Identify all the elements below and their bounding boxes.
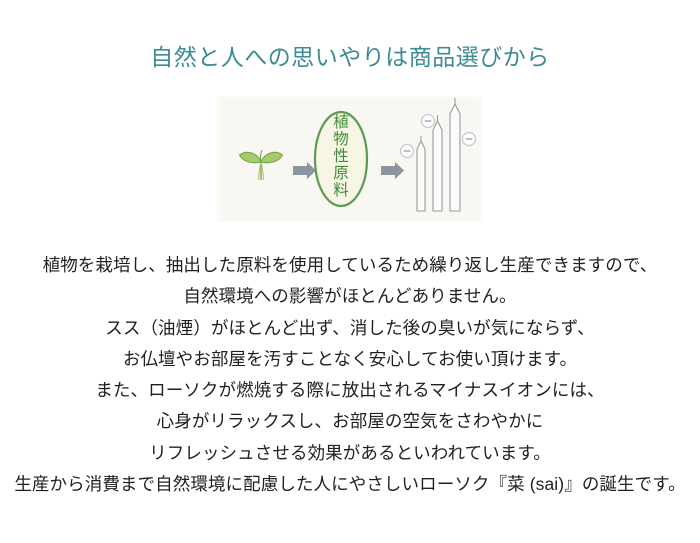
- candle-tall: [450, 98, 460, 211]
- body-line-5: また、ローソクが燃焼する際に放出されるマイナスイオンには、: [0, 375, 700, 406]
- body-line-1: 植物を栽培し、抽出した原料を使用しているため繰り返し生産できますので、: [0, 250, 700, 281]
- arrow-right-icon-2: [381, 162, 404, 179]
- candle-small: [417, 136, 425, 211]
- sprout-icon: [240, 150, 283, 180]
- page-title: 自然と人への思いやりは商品選びから: [0, 42, 700, 72]
- ellipse-char-5: 料: [333, 181, 349, 199]
- illustration-panel: 植 物 性 原 料: [217, 96, 483, 222]
- minus-ion-icon-2: [422, 115, 435, 128]
- body-copy: 植物を栽培し、抽出した原料を使用しているため繰り返し生産できますので、 自然環境…: [0, 250, 700, 500]
- ellipse-char-1: 植: [333, 113, 349, 131]
- minus-ion-icon-1: [401, 145, 414, 158]
- body-line-8: 生産から消費まで自然環境に配慮した人にやさしいローソク『菜 (sai)』の誕生で…: [0, 469, 700, 500]
- product-description-page: 自然と人への思いやりは商品選びから: [0, 0, 700, 543]
- body-line-2: 自然環境への影響がほとんどありません。: [0, 281, 700, 312]
- ellipse-char-4: 原: [333, 165, 349, 182]
- body-line-7: リフレッシュさせる効果があるといわれています。: [0, 438, 700, 469]
- body-line-6: 心身がリラックスし、お部屋の空気をさわやかに: [0, 406, 700, 437]
- candle-medium: [433, 115, 442, 211]
- candles-group: [401, 98, 476, 211]
- body-line-4: お仏壇やお部屋を汚すことなく安心してお使い頂けます。: [0, 344, 700, 375]
- ellipse-vertical-label: 植 物 性 原 料: [333, 113, 349, 199]
- minus-ion-icon-3: [463, 133, 476, 146]
- ellipse-char-2: 物: [333, 130, 349, 148]
- body-line-3: スス（油煙）がほとんど出ず、消した後の臭いが気にならず、: [0, 313, 700, 344]
- arrow-right-icon-1: [293, 162, 316, 179]
- ellipse-char-3: 性: [333, 147, 349, 165]
- process-diagram-svg: 植 物 性 原 料: [217, 96, 483, 222]
- plant-material-ellipse: 植 物 性 原 料: [315, 112, 367, 206]
